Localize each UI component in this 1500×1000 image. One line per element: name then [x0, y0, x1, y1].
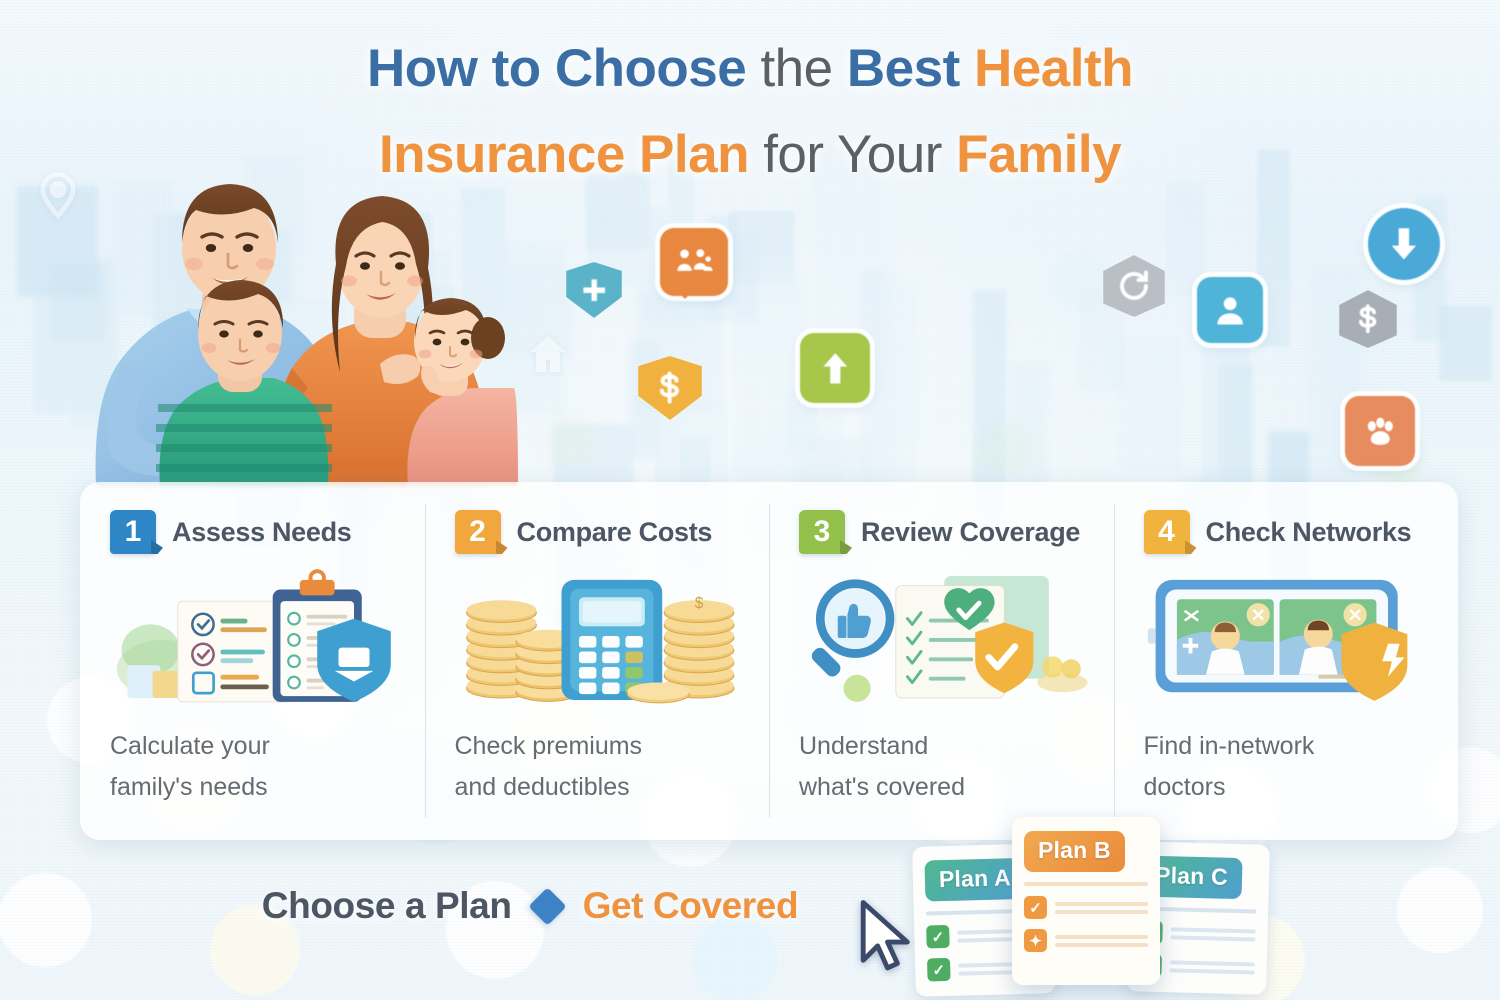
step-card-4[interactable]: 4 Check Networks Find in-networkdoctors — [1114, 482, 1459, 840]
plan-feature-row: ✓ — [1024, 896, 1148, 919]
step-header: 4 Check Networks — [1144, 508, 1435, 556]
calculator-coins-illustration: $ — [455, 562, 746, 712]
doctor-network-screen-illustration — [1144, 562, 1435, 712]
title-line-1: How to Choose the Best Health — [0, 26, 1500, 112]
plan-feature-row: ✦ — [1024, 929, 1148, 952]
step-number-badge: 4 — [1144, 510, 1190, 554]
step-header: 1 Assess Needs — [110, 508, 401, 556]
plan-feature-bars — [1169, 956, 1254, 978]
title-segment-gray: the — [760, 39, 832, 98]
mouse-pointer-icon — [855, 898, 917, 974]
title-segment-gray: for Your — [763, 125, 942, 184]
upload-arrow-icon — [800, 333, 870, 403]
title-segment-orange: Family — [956, 125, 1121, 184]
title-segment-orange: Health — [974, 39, 1133, 98]
magnifier-checklist-illustration — [799, 562, 1090, 712]
call-to-action-bar: Choose a Plan Get Covered — [150, 885, 910, 927]
member-card-icon — [1197, 277, 1263, 343]
svg-text:$: $ — [694, 595, 703, 612]
check-icon: ✓ — [927, 958, 951, 982]
step-title: Compare Costs — [517, 517, 713, 548]
step-number-badge: 2 — [455, 510, 501, 554]
download-arrow-icon — [1368, 208, 1440, 280]
step-caption: Calculate yourfamily's needs — [110, 726, 401, 808]
check-icon: ✓ — [1024, 896, 1047, 919]
plan-card-plan-b[interactable]: Plan B ✓ ✦ — [1012, 817, 1160, 985]
cta-left-label: Choose a Plan — [262, 885, 512, 927]
step-title: Assess Needs — [172, 517, 352, 548]
title-segment-blue: How to Choose — [367, 39, 746, 98]
title-line-2: Insurance Plan for Your Family — [0, 112, 1500, 198]
step-caption: Check premiumsand deductibles — [455, 726, 746, 808]
plan-name-tag: Plan A — [924, 858, 1025, 902]
plan-feature-bars — [1170, 923, 1255, 945]
checklist-clipboard-illustration — [110, 562, 401, 712]
step-card-2[interactable]: 2 Compare Costs $ Che — [425, 482, 770, 840]
step-header: 2 Compare Costs — [455, 508, 746, 556]
step-caption: Find in-networkdoctors — [1144, 726, 1435, 808]
family-chat-icon — [660, 228, 728, 296]
step-caption: Understandwhat's covered — [799, 726, 1090, 808]
step-card-1[interactable]: 1 Assess Needs Calculate yourfamily's ne… — [80, 482, 425, 840]
plan-name-tag: Plan B — [1024, 831, 1125, 872]
plan-divider — [1024, 882, 1148, 886]
home-shield-icon — [524, 330, 572, 378]
cta-right-label: Get Covered — [583, 885, 799, 927]
step-header: 3 Review Coverage — [799, 508, 1090, 556]
page-title: How to Choose the Best Health Insurance … — [0, 26, 1500, 198]
title-segment-blue: Best — [847, 39, 960, 98]
plan-feature-bars — [1055, 931, 1148, 951]
step-number-badge: 1 — [110, 510, 156, 554]
plan-feature-bars — [1055, 898, 1148, 918]
diamond-icon — [528, 887, 566, 925]
title-segment-orange: Insurance Plan — [379, 125, 749, 184]
step-number-badge: 3 — [799, 510, 845, 554]
step-title: Check Networks — [1206, 517, 1412, 548]
paw-heart-icon — [1345, 396, 1415, 466]
step-card-3[interactable]: 3 Review Coverage Understandwhat's cover… — [769, 482, 1114, 840]
plan-cards-group: Plan A ✓ ✓ Plan C ✓ — [900, 815, 1270, 1000]
step-title: Review Coverage — [861, 517, 1080, 548]
drop-icon: ✦ — [1024, 929, 1047, 952]
steps-panel: 1 Assess Needs Calculate yourfamily's ne… — [80, 482, 1458, 840]
check-icon: ✓ — [926, 925, 950, 949]
